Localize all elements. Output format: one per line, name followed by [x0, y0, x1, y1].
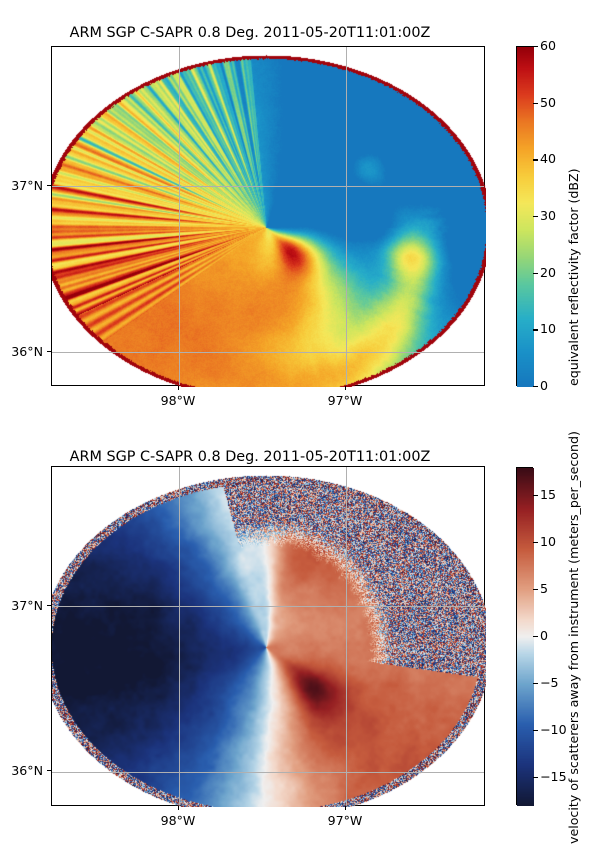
velocity-colorbar-gradient: [517, 468, 534, 806]
colorbar-tick-label: 15: [540, 487, 556, 502]
colorbar-tick-mark: [533, 589, 538, 590]
gridline-horizontal-37n-vel: [52, 606, 484, 607]
colorbar-tick-label: 5: [540, 581, 548, 596]
colorbar-tick-label: −5: [540, 675, 559, 690]
xtick-label-98w-vel: 98°W: [143, 813, 213, 828]
colorbar-tick-label: 30: [540, 208, 556, 223]
colorbar-tick-mark: [533, 636, 538, 637]
colorbar-tick-label: 0: [540, 378, 548, 393]
colorbar-tick-mark: [533, 683, 538, 684]
xtick-label-97w-refl: 97°W: [310, 393, 380, 408]
colorbar-tick-mark: [533, 777, 538, 778]
colorbar-tick-label: −15: [540, 769, 567, 784]
xtick-label-98w-refl: 98°W: [143, 393, 213, 408]
reflectivity-colorbar-label: equivalent reflectivity factor (dBZ): [566, 168, 581, 386]
xtick-mark-97w-refl: [345, 386, 346, 390]
ytick-label-36n-refl: 36°N: [0, 344, 43, 359]
colorbar-tick-mark: [533, 159, 538, 160]
colorbar-tick-mark: [533, 216, 538, 217]
xtick-mark-98w-refl: [178, 386, 179, 390]
colorbar-tick-label: 20: [540, 265, 556, 280]
xtick-label-97w-vel: 97°W: [310, 813, 380, 828]
colorbar-tick-mark: [533, 542, 538, 543]
ytick-mark-36n-refl: [47, 351, 51, 352]
colorbar-tick-label: 50: [540, 95, 556, 110]
colorbar-tick-label: 0: [540, 628, 548, 643]
reflectivity-colorbar[interactable]: [516, 46, 533, 386]
reflectivity-ppi-canvas: [52, 47, 486, 387]
colorbar-tick-label: 10: [540, 321, 556, 336]
gridline-horizontal-37n: [52, 186, 484, 187]
colorbar-tick-mark: [533, 386, 538, 387]
colorbar-tick-label: 40: [540, 151, 556, 166]
ytick-mark-36n-vel: [47, 770, 51, 771]
colorbar-tick-mark: [533, 495, 538, 496]
colorbar-tick-label: 60: [540, 38, 556, 53]
ytick-label-36n-vel: 36°N: [0, 763, 43, 778]
reflectivity-colorbar-gradient: [517, 47, 534, 387]
velocity-colorbar[interactable]: [516, 467, 533, 805]
reflectivity-axes[interactable]: [51, 46, 485, 386]
ytick-label-37n-refl: 37°N: [0, 178, 43, 193]
colorbar-tick-label: 10: [540, 534, 556, 549]
velocity-ppi-canvas: [52, 467, 486, 807]
gridline-vertical-98w-vel: [179, 467, 180, 805]
reflectivity-panel: ARM SGP C-SAPR 0.8 Deg. 2011-05-20T11:01…: [0, 0, 604, 424]
xtick-mark-97w-vel: [345, 806, 346, 810]
gridline-horizontal-36n-vel: [52, 772, 484, 773]
velocity-title-line1: ARM SGP C-SAPR 0.8 Deg. 2011-05-20T11:01…: [70, 449, 431, 465]
colorbar-tick-label: −10: [540, 722, 567, 737]
velocity-panel: ARM SGP C-SAPR 0.8 Deg. 2011-05-20T11:01…: [0, 424, 604, 848]
reflectivity-title-line1: ARM SGP C-SAPR 0.8 Deg. 2011-05-20T11:01…: [70, 25, 431, 41]
gridline-vertical-97w: [346, 47, 347, 385]
ytick-label-37n-vel: 37°N: [0, 598, 43, 613]
ytick-mark-37n-refl: [47, 185, 51, 186]
velocity-axes[interactable]: [51, 466, 485, 806]
colorbar-tick-mark: [533, 46, 538, 47]
velocity-colorbar-label: velocity of scatterers away from instrum…: [566, 431, 581, 844]
gridline-vertical-98w: [179, 47, 180, 385]
gridline-vertical-97w-vel: [346, 467, 347, 805]
gridline-horizontal-36n: [52, 352, 484, 353]
colorbar-tick-mark: [533, 730, 538, 731]
xtick-mark-98w-vel: [178, 806, 179, 810]
colorbar-tick-mark: [533, 273, 538, 274]
colorbar-tick-mark: [533, 103, 538, 104]
colorbar-tick-mark: [533, 329, 538, 330]
ytick-mark-37n-vel: [47, 605, 51, 606]
